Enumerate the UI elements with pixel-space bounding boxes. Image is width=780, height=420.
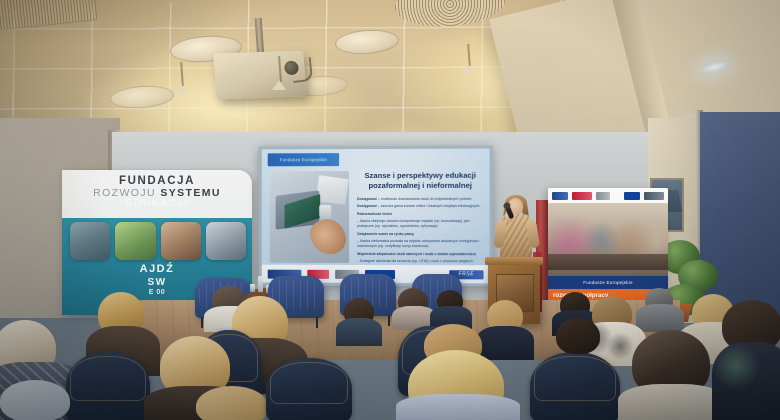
banner-logo-row	[548, 188, 668, 203]
banner-photo-tile	[70, 222, 110, 260]
chair-leg	[388, 315, 390, 326]
polska-flag-logo-icon	[572, 192, 592, 200]
slide-bullet: Dostępność – szeroka gama kursów online …	[357, 204, 484, 209]
audience-head	[556, 318, 600, 354]
drinking-glass	[250, 284, 255, 292]
presentation-slide: Fundusze Europejskie Szanse i perspektyw…	[262, 149, 490, 284]
chair-rim	[70, 356, 146, 401]
banner-photo-tile	[206, 222, 246, 260]
chair-leg	[316, 317, 318, 328]
banquet-chair	[66, 352, 150, 420]
ministry-logo-icon	[596, 192, 610, 200]
water-bottle	[258, 276, 263, 292]
frse-logo-icon	[644, 192, 664, 200]
illustration-paper	[316, 175, 349, 205]
audience-shoulders	[476, 326, 534, 360]
slide-bullet: – Dostępne szkolenia dla seniorów (np. U…	[357, 259, 484, 265]
banner-photo-strip	[70, 222, 246, 260]
chair-leg	[201, 317, 203, 328]
eu-flag-logo-icon	[552, 192, 568, 200]
banquet-chair	[266, 358, 352, 420]
fundusze-logo-icon	[624, 192, 640, 200]
slide-bullet: Dostępność – możliwość dostosowania nauk…	[357, 197, 484, 202]
banner-photo-tile	[161, 222, 201, 260]
slide-illustration	[270, 171, 349, 263]
banner-title-block: FUNDACJA ROZWOJU SYSTEMU EDUKACJI	[62, 176, 252, 209]
pendant-cone-icon	[272, 80, 286, 90]
audience-head	[0, 380, 70, 420]
slide-title-line2: pozaformalnej i nieformalnej	[357, 181, 484, 191]
slide-bullet: – Nauka nieformalna pozwala na szybkie z…	[357, 239, 484, 250]
banner-sub-line1: AJDŹ	[62, 263, 252, 277]
projection-screen: Fundusze Europejskie Szanse i perspektyw…	[259, 146, 493, 287]
slide-title: Szanse i perspektywy edukacji pozaformal…	[357, 171, 484, 191]
audience-head	[196, 386, 268, 420]
pendant-cone-icon	[174, 84, 188, 94]
audience-shoulders	[618, 384, 726, 420]
slide-bullet: Różnorodność treści	[357, 212, 484, 217]
slide-bullet: – Nauka obejmuje zarówno kompetencje mię…	[357, 219, 484, 229]
banner-photo-tile	[115, 222, 155, 260]
banner-caption-blue: Fundusze Europejskie	[548, 276, 668, 289]
slide-bullet-list: Dostępność – możliwość dostosowania nauk…	[357, 197, 484, 267]
banner-photo-table	[548, 254, 668, 270]
pendant-cone-icon	[461, 64, 475, 74]
slide-bullet: Wspieranie aktywności osób starszych i o…	[357, 251, 484, 256]
slide-header-badge: Fundusze Europejskie	[268, 153, 339, 166]
banquet-chair	[530, 352, 620, 420]
banner-line-edukacji: EDUKACJI	[62, 198, 252, 209]
chair-rim	[534, 356, 616, 401]
audience-shoulders	[336, 318, 382, 346]
banner-group-photo	[548, 203, 668, 276]
chair-rim	[270, 362, 348, 404]
podium-top	[485, 257, 543, 265]
audience-shoulders	[636, 304, 684, 332]
conference-room-photo: FUNDACJA ROZWOJU SYSTEMU EDUKACJI AJDŹ S…	[0, 0, 780, 420]
slide-bullet: Zwiększenie szans na rynku pracy	[357, 232, 484, 237]
audience-shoulders	[396, 394, 520, 420]
audience-shoulders	[712, 342, 780, 420]
illustration-cup	[319, 205, 331, 219]
slide-title-line1: Szanse i perspektywy edukacji	[357, 171, 484, 181]
